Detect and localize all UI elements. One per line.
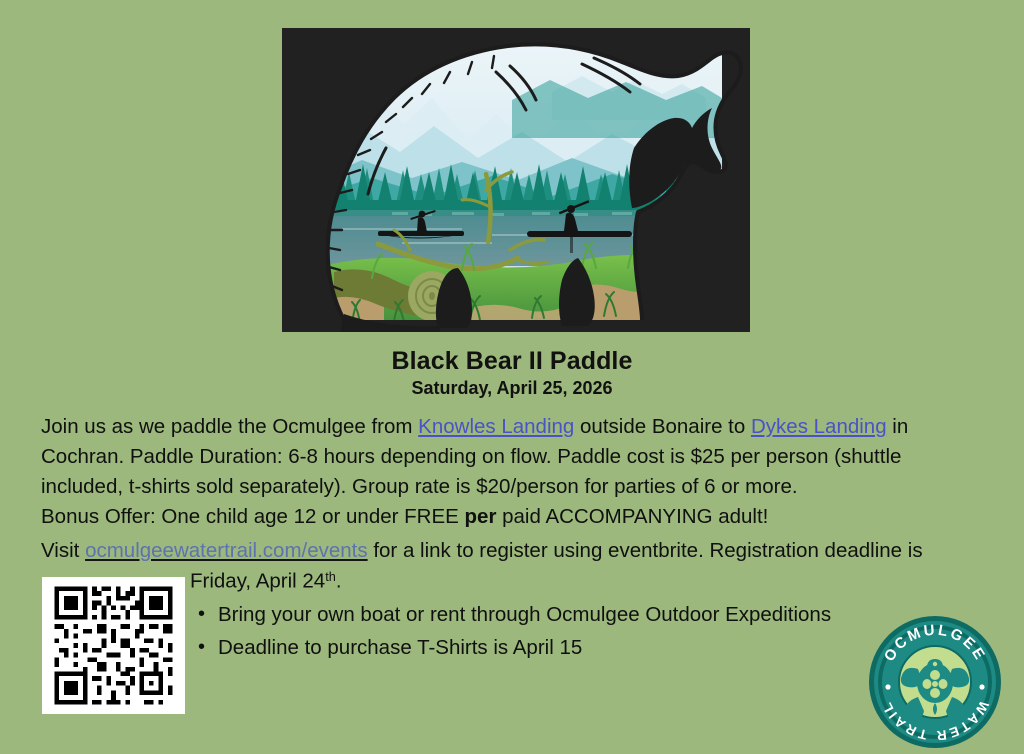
event-date: Saturday, April 25, 2026 <box>0 378 1024 399</box>
registration-segment-2: for a link to register using eventbrite.… <box>368 539 923 562</box>
registration-segment-1: Visit <box>41 539 85 562</box>
deadline-period: . <box>336 570 342 593</box>
registration-deadline: Friday, April 24th. <box>190 563 342 596</box>
knowles-landing-link[interactable]: Knowles Landing <box>418 415 574 438</box>
bullet-icon: • <box>198 598 205 631</box>
dykes-landing-link[interactable]: Dykes Landing <box>751 415 887 438</box>
bonus-segment-2: paid ACCOMPANYING adult! <box>496 505 768 528</box>
list-item-label: Bring your own boat or rent through Ocmu… <box>218 603 831 626</box>
bonus-emphasis: per <box>465 505 497 528</box>
paragraph-bonus: Bonus Offer: One child age 12 or under F… <box>41 502 981 532</box>
deadline-date: Friday, April 24 <box>190 570 325 593</box>
poster-root: Black Bear II Paddle Saturday, April 25,… <box>0 0 1024 754</box>
ocmulgee-water-trail-logo: OCMULGEE WATER TRAIL <box>866 613 1004 751</box>
body-copy: Join us as we paddle the Ocmulgee from K… <box>41 412 981 566</box>
page-title: Black Bear II Paddle <box>0 347 1024 376</box>
deadline-ordinal: th <box>325 569 336 584</box>
bonus-segment-1: Bonus Offer: One child age 12 or under F… <box>41 505 465 528</box>
qr-code[interactable] <box>42 577 185 714</box>
paragraph-details: Join us as we paddle the Ocmulgee from K… <box>41 412 981 502</box>
details-segment-2: outside Bonaire to <box>574 415 751 438</box>
list-item: • Bring your own boat or rent through Oc… <box>218 598 831 631</box>
bullet-list: • Bring your own boat or rent through Oc… <box>196 598 831 664</box>
bullet-icon: • <box>198 631 205 664</box>
bear-illustration <box>282 28 750 332</box>
list-item: • Deadline to purchase T-Shirts is April… <box>218 631 831 664</box>
details-segment-1: Join us as we paddle the Ocmulgee from <box>41 415 418 438</box>
list-item-label: Deadline to purchase T-Shirts is April 1… <box>218 636 582 659</box>
ocmulgeewatertrail-link[interactable]: ocmulgeewatertrail.com/events <box>85 539 368 562</box>
paragraph-registration: Visit ocmulgeewatertrail.com/events for … <box>41 536 981 566</box>
